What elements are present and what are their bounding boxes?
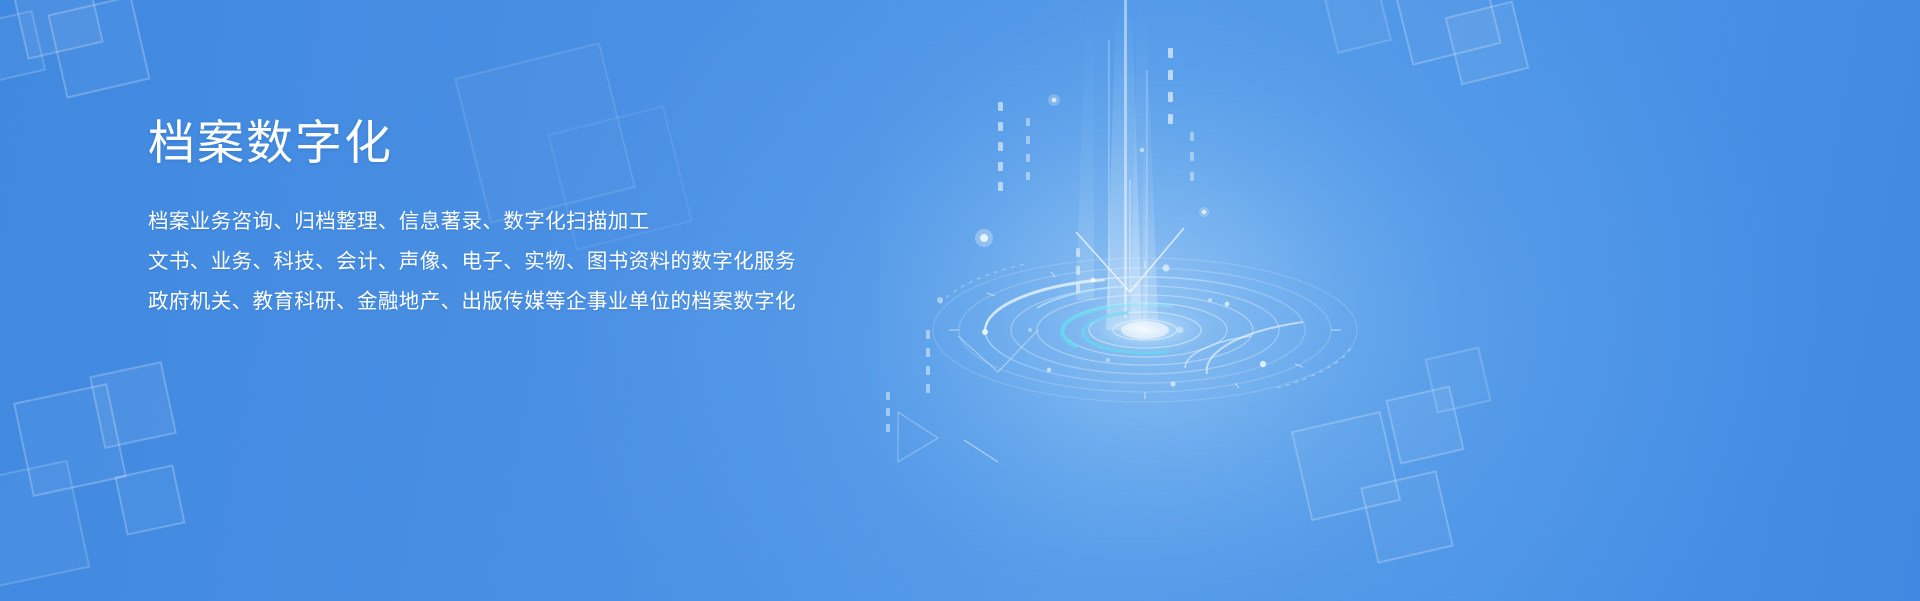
decor-square	[1385, 385, 1464, 464]
hero-banner: 档案数字化 档案业务咨询、归档整理、信息著录、数字化扫描加工 文书、业务、科技、…	[0, 0, 1920, 601]
decor-square	[114, 464, 185, 535]
hud-dots	[886, 392, 890, 432]
banner-subtitle-line: 文书、业务、科技、会计、声像、电子、实物、图书资料的数字化服务	[148, 242, 908, 282]
down-arrow-icon	[1076, 180, 1184, 292]
hud-marks	[898, 412, 998, 462]
decor-square	[1424, 346, 1491, 413]
decor-square	[0, 10, 46, 84]
decor-square	[47, 0, 150, 99]
decor-square	[0, 460, 90, 590]
decor-square	[1445, 1, 1530, 86]
radar-rings	[933, 120, 1357, 402]
tech-orb-graphic	[880, 0, 1920, 601]
decor-square	[10, 0, 104, 60]
glowing-particles	[937, 94, 1212, 362]
descending-light-beams	[1076, 0, 1158, 330]
banner-copy: 档案数字化 档案业务咨询、归档整理、信息著录、数字化扫描加工 文书、业务、科技、…	[148, 112, 908, 322]
decor-square	[89, 361, 177, 449]
banner-subtitle-list: 档案业务咨询、归档整理、信息著录、数字化扫描加工 文书、业务、科技、会计、声像、…	[148, 202, 908, 322]
banner-subtitle-line: 政府机关、教育科研、金融地产、出版传媒等企事业单位的档案数字化	[148, 282, 908, 322]
decor-square	[13, 383, 127, 497]
decor-square	[1360, 470, 1454, 564]
decor-square	[1390, 0, 1502, 66]
down-arrow-icon	[958, 330, 1038, 372]
banner-title: 档案数字化	[148, 112, 908, 174]
dotted-data-columns	[926, 48, 1194, 393]
decor-square	[1324, 0, 1392, 54]
banner-subtitle-line: 档案业务咨询、归档整理、信息著录、数字化扫描加工	[148, 202, 908, 242]
decor-square	[1291, 411, 1401, 521]
